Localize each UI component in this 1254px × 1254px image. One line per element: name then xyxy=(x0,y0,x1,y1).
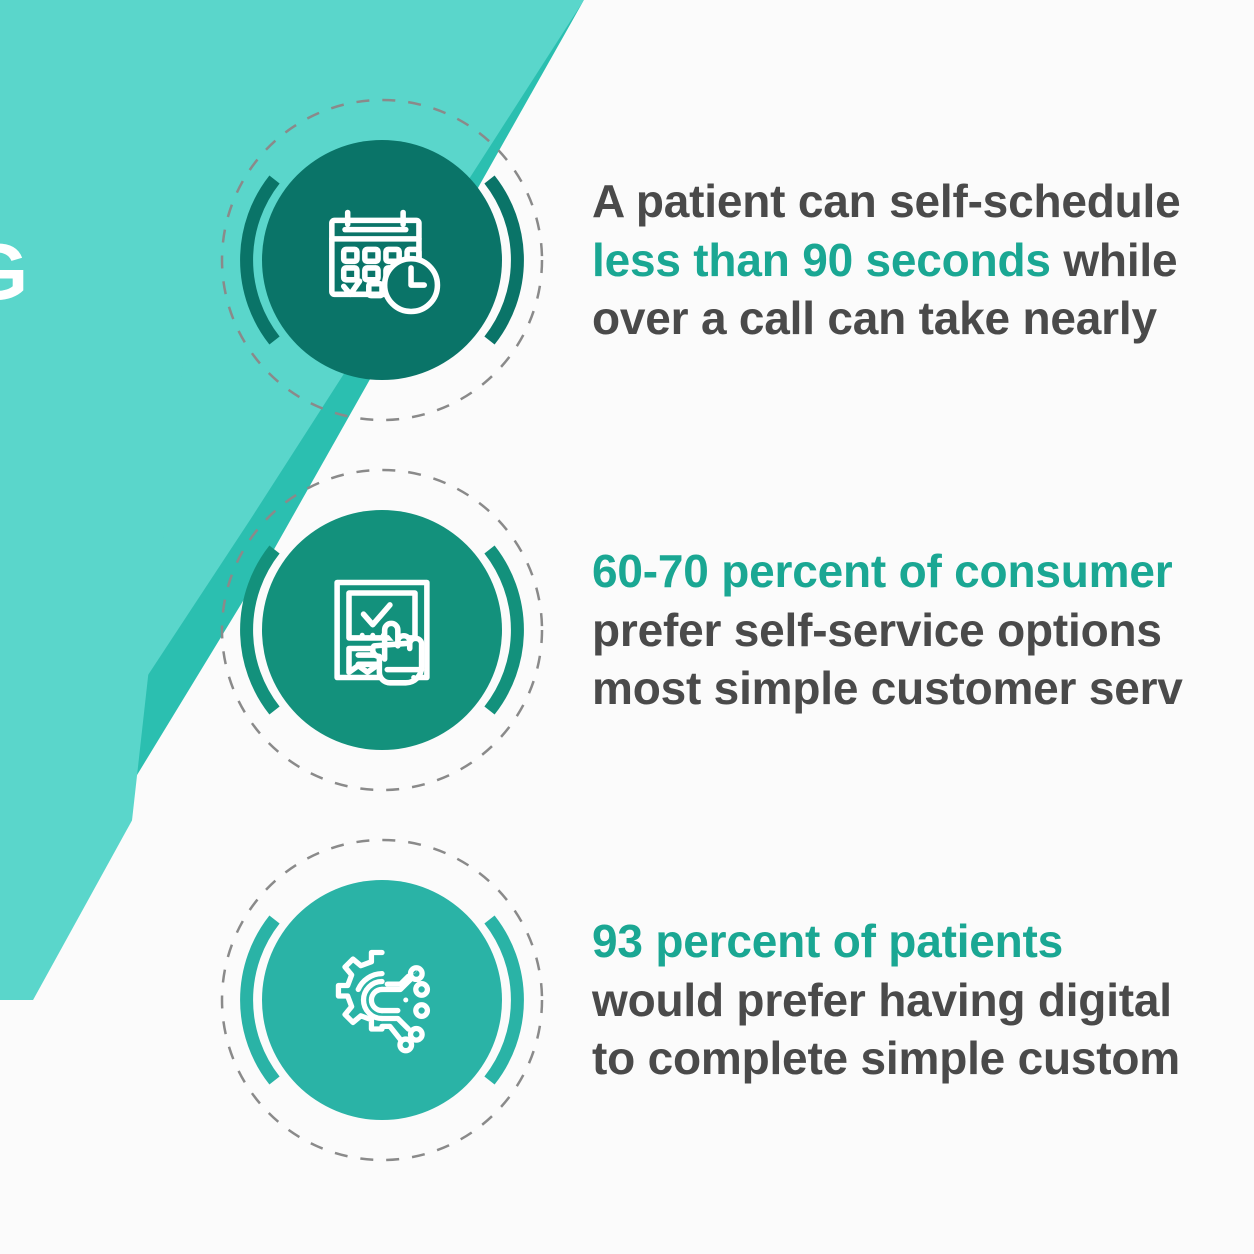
stat-seg: would prefer having digital xyxy=(592,974,1172,1026)
stat-row-digital-preference: 93 percent of patients would prefer havi… xyxy=(0,832,1254,1168)
stat-seg: prefer self-service options xyxy=(592,604,1162,656)
stat-line: 93 percent of patients xyxy=(592,912,1180,970)
stat-row-self-schedule: A patient can self-schedule less than 90… xyxy=(0,92,1254,428)
stat-line: to complete simple custom xyxy=(592,1029,1180,1087)
stat-seg: most simple customer serv xyxy=(592,662,1183,714)
gear-circuit-ai-icon xyxy=(262,880,502,1120)
stat-line: over a call can take nearly xyxy=(592,289,1181,347)
stat-line: less than 90 seconds while xyxy=(592,231,1181,289)
stat-seg: while xyxy=(1051,234,1178,286)
stat-seg: A patient can self-schedule xyxy=(592,175,1181,227)
badge-digital-preference xyxy=(214,832,550,1168)
stat-line: most simple customer serv xyxy=(592,659,1183,717)
stat-seg: to complete simple custom xyxy=(592,1032,1180,1084)
stat-seg: over a call can take nearly xyxy=(592,292,1157,344)
badge-self-service xyxy=(214,462,550,798)
stat-line: 60-70 percent of consumer xyxy=(592,542,1183,600)
stat-text-self-schedule: A patient can self-schedule less than 90… xyxy=(592,172,1181,347)
stat-text-self-service: 60-70 percent of consumer prefer self-se… xyxy=(592,542,1183,717)
infographic-canvas: G xyxy=(0,0,1254,1254)
badge-self-schedule xyxy=(214,92,550,428)
stat-seg-highlight: 93 percent of patients xyxy=(592,915,1063,967)
stat-line: would prefer having digital xyxy=(592,971,1180,1029)
stat-seg-highlight: 60-70 percent of consumer xyxy=(592,545,1172,597)
stat-seg-highlight: less than 90 seconds xyxy=(592,234,1051,286)
self-service-kiosk-icon xyxy=(262,510,502,750)
stat-rows: A patient can self-schedule less than 90… xyxy=(0,0,1254,1254)
stat-row-self-service: 60-70 percent of consumer prefer self-se… xyxy=(0,462,1254,798)
stat-text-digital-preference: 93 percent of patients would prefer havi… xyxy=(592,912,1180,1087)
stat-line: A patient can self-schedule xyxy=(592,172,1181,230)
stat-line: prefer self-service options xyxy=(592,601,1183,659)
calendar-clock-icon xyxy=(262,140,502,380)
